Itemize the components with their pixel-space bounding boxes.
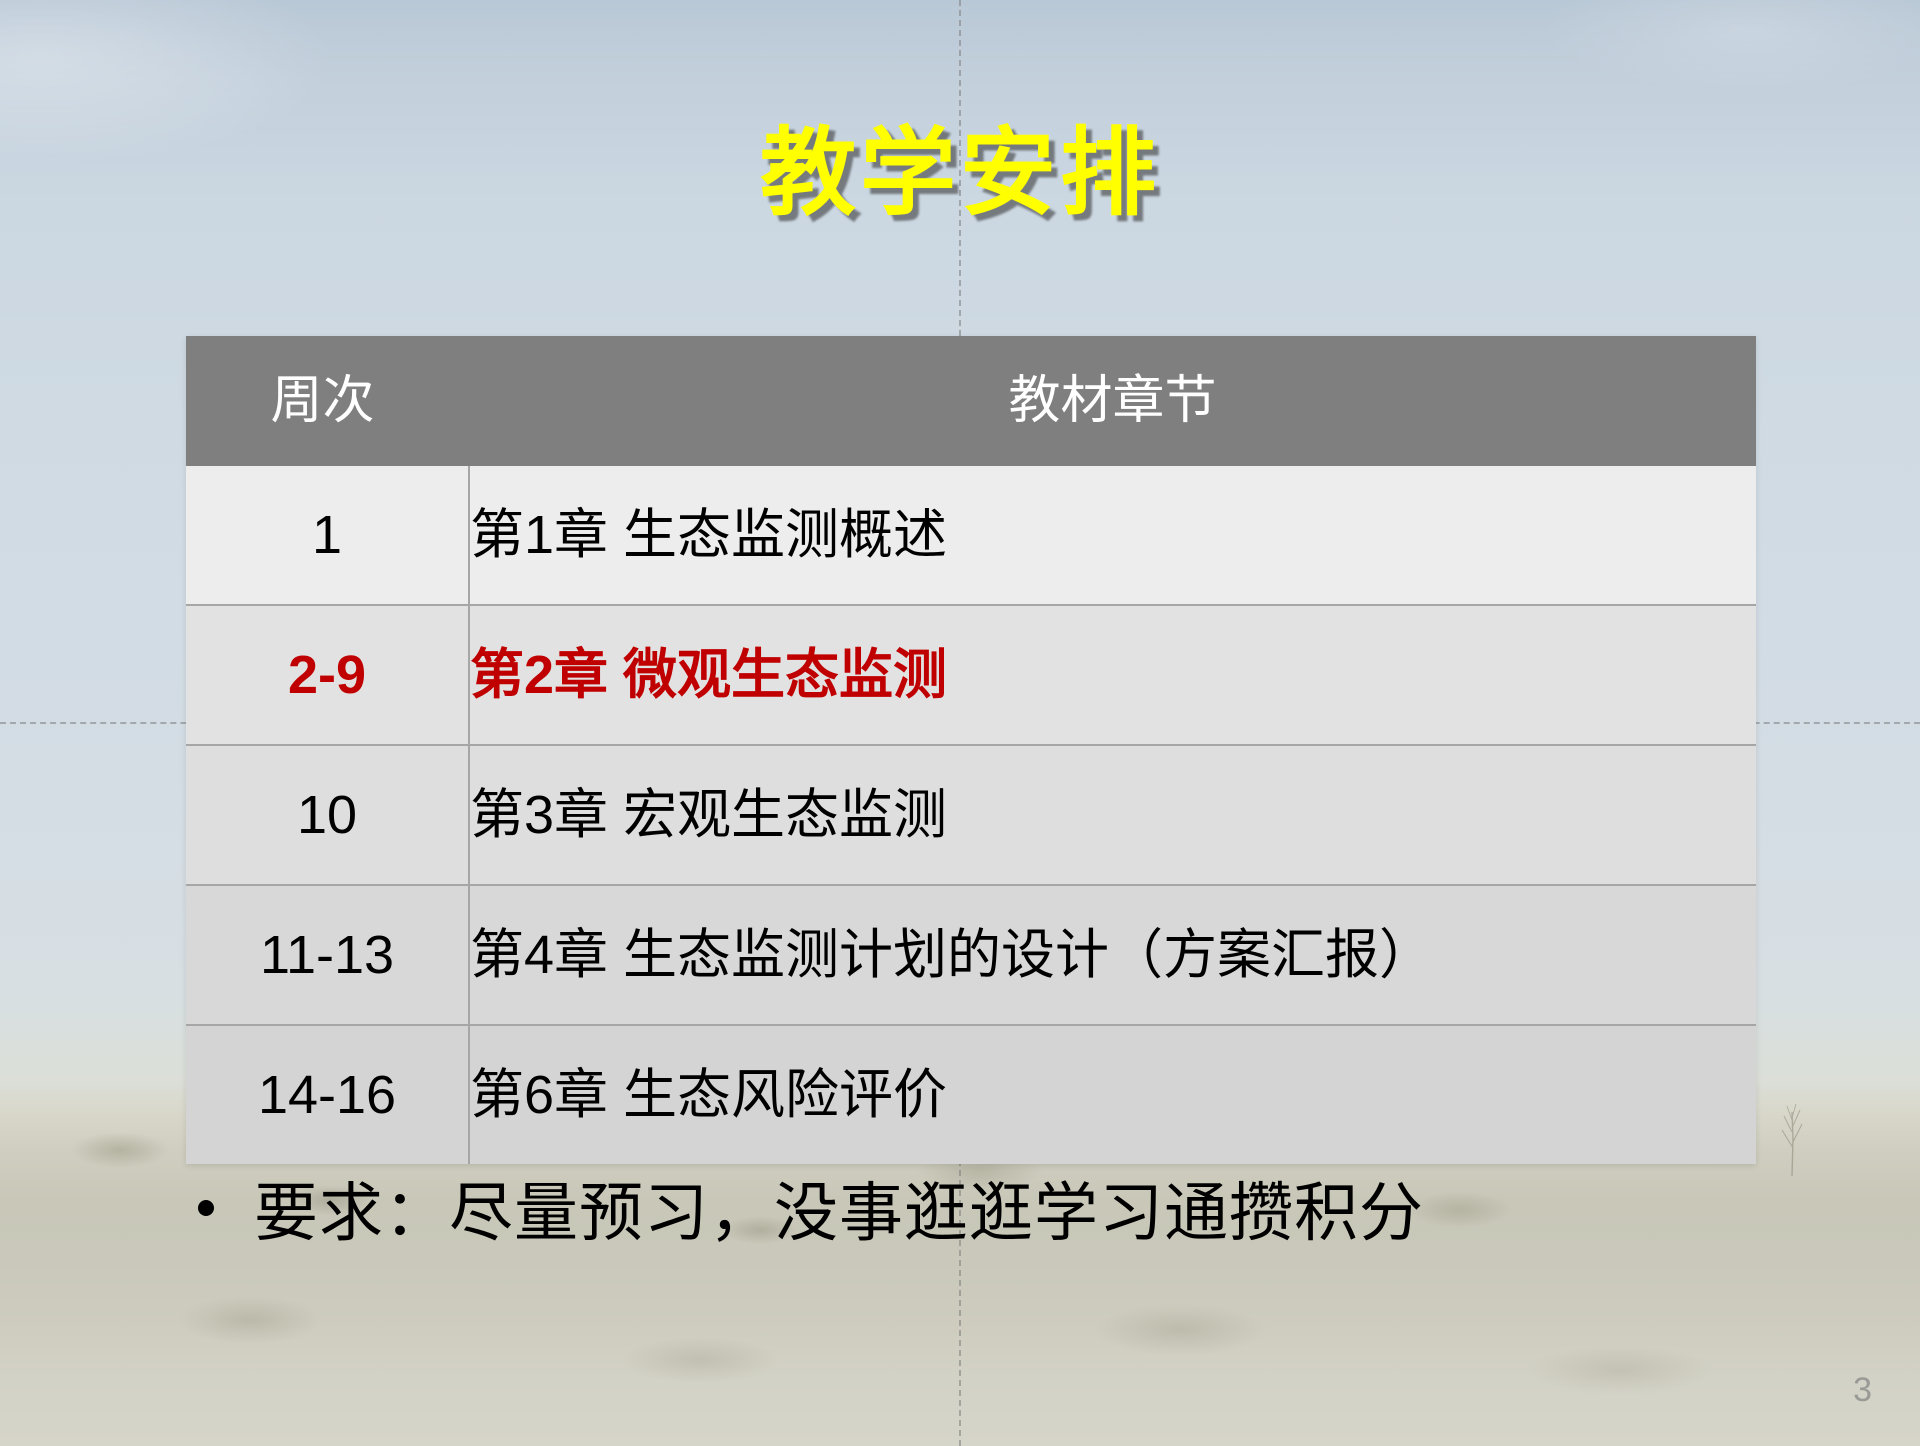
schedule-table-container: 周次 教材章节 1 第1章 生态监测概述 2-9 第2章 微观生态监测 10 第… xyxy=(186,336,1756,1164)
page-title: 教学安排 xyxy=(0,121,1920,226)
bullet-dot-icon xyxy=(198,1200,214,1216)
requirement-text: 要求：尽量预习，没事逛逛学习通攒积分 xyxy=(254,1162,1424,1254)
table-row-highlighted: 2-9 第2章 微观生态监测 xyxy=(186,605,1756,745)
cell-week: 1 xyxy=(186,466,469,605)
column-header-week: 周次 xyxy=(186,336,469,466)
table-row: 10 第3章 宏观生态监测 xyxy=(186,745,1756,885)
table-row: 14-16 第6章 生态风险评价 xyxy=(186,1025,1756,1164)
cell-week: 10 xyxy=(186,745,469,885)
cell-chapter: 第2章 微观生态监测 xyxy=(469,605,1756,745)
table-body: 1 第1章 生态监测概述 2-9 第2章 微观生态监测 10 第3章 宏观生态监… xyxy=(186,466,1756,1164)
table-header-row: 周次 教材章节 xyxy=(186,336,1756,466)
cell-chapter: 第4章 生态监测计划的设计（方案汇报） xyxy=(469,885,1756,1025)
cell-chapter: 第3章 宏观生态监测 xyxy=(469,745,1756,885)
cell-week: 14-16 xyxy=(186,1025,469,1164)
table-row: 11-13 第4章 生态监测计划的设计（方案汇报） xyxy=(186,885,1756,1025)
column-header-chapter: 教材章节 xyxy=(469,336,1756,466)
cell-week: 11-13 xyxy=(186,885,469,1025)
cell-week: 2-9 xyxy=(186,605,469,745)
table-header: 周次 教材章节 xyxy=(186,336,1756,466)
requirement-bullet: 要求：尽量预习，没事逛逛学习通攒积分 xyxy=(198,1162,1838,1254)
page-number: 3 xyxy=(1853,1371,1872,1410)
slide-canvas: 教学安排 周次 教材章节 1 第1章 生态监测概述 2-9 第2章 xyxy=(0,0,1920,1446)
cell-chapter: 第6章 生态风险评价 xyxy=(469,1025,1756,1164)
schedule-table: 周次 教材章节 1 第1章 生态监测概述 2-9 第2章 微观生态监测 10 第… xyxy=(186,336,1756,1164)
cell-chapter: 第1章 生态监测概述 xyxy=(469,466,1756,605)
table-row: 1 第1章 生态监测概述 xyxy=(186,466,1756,605)
